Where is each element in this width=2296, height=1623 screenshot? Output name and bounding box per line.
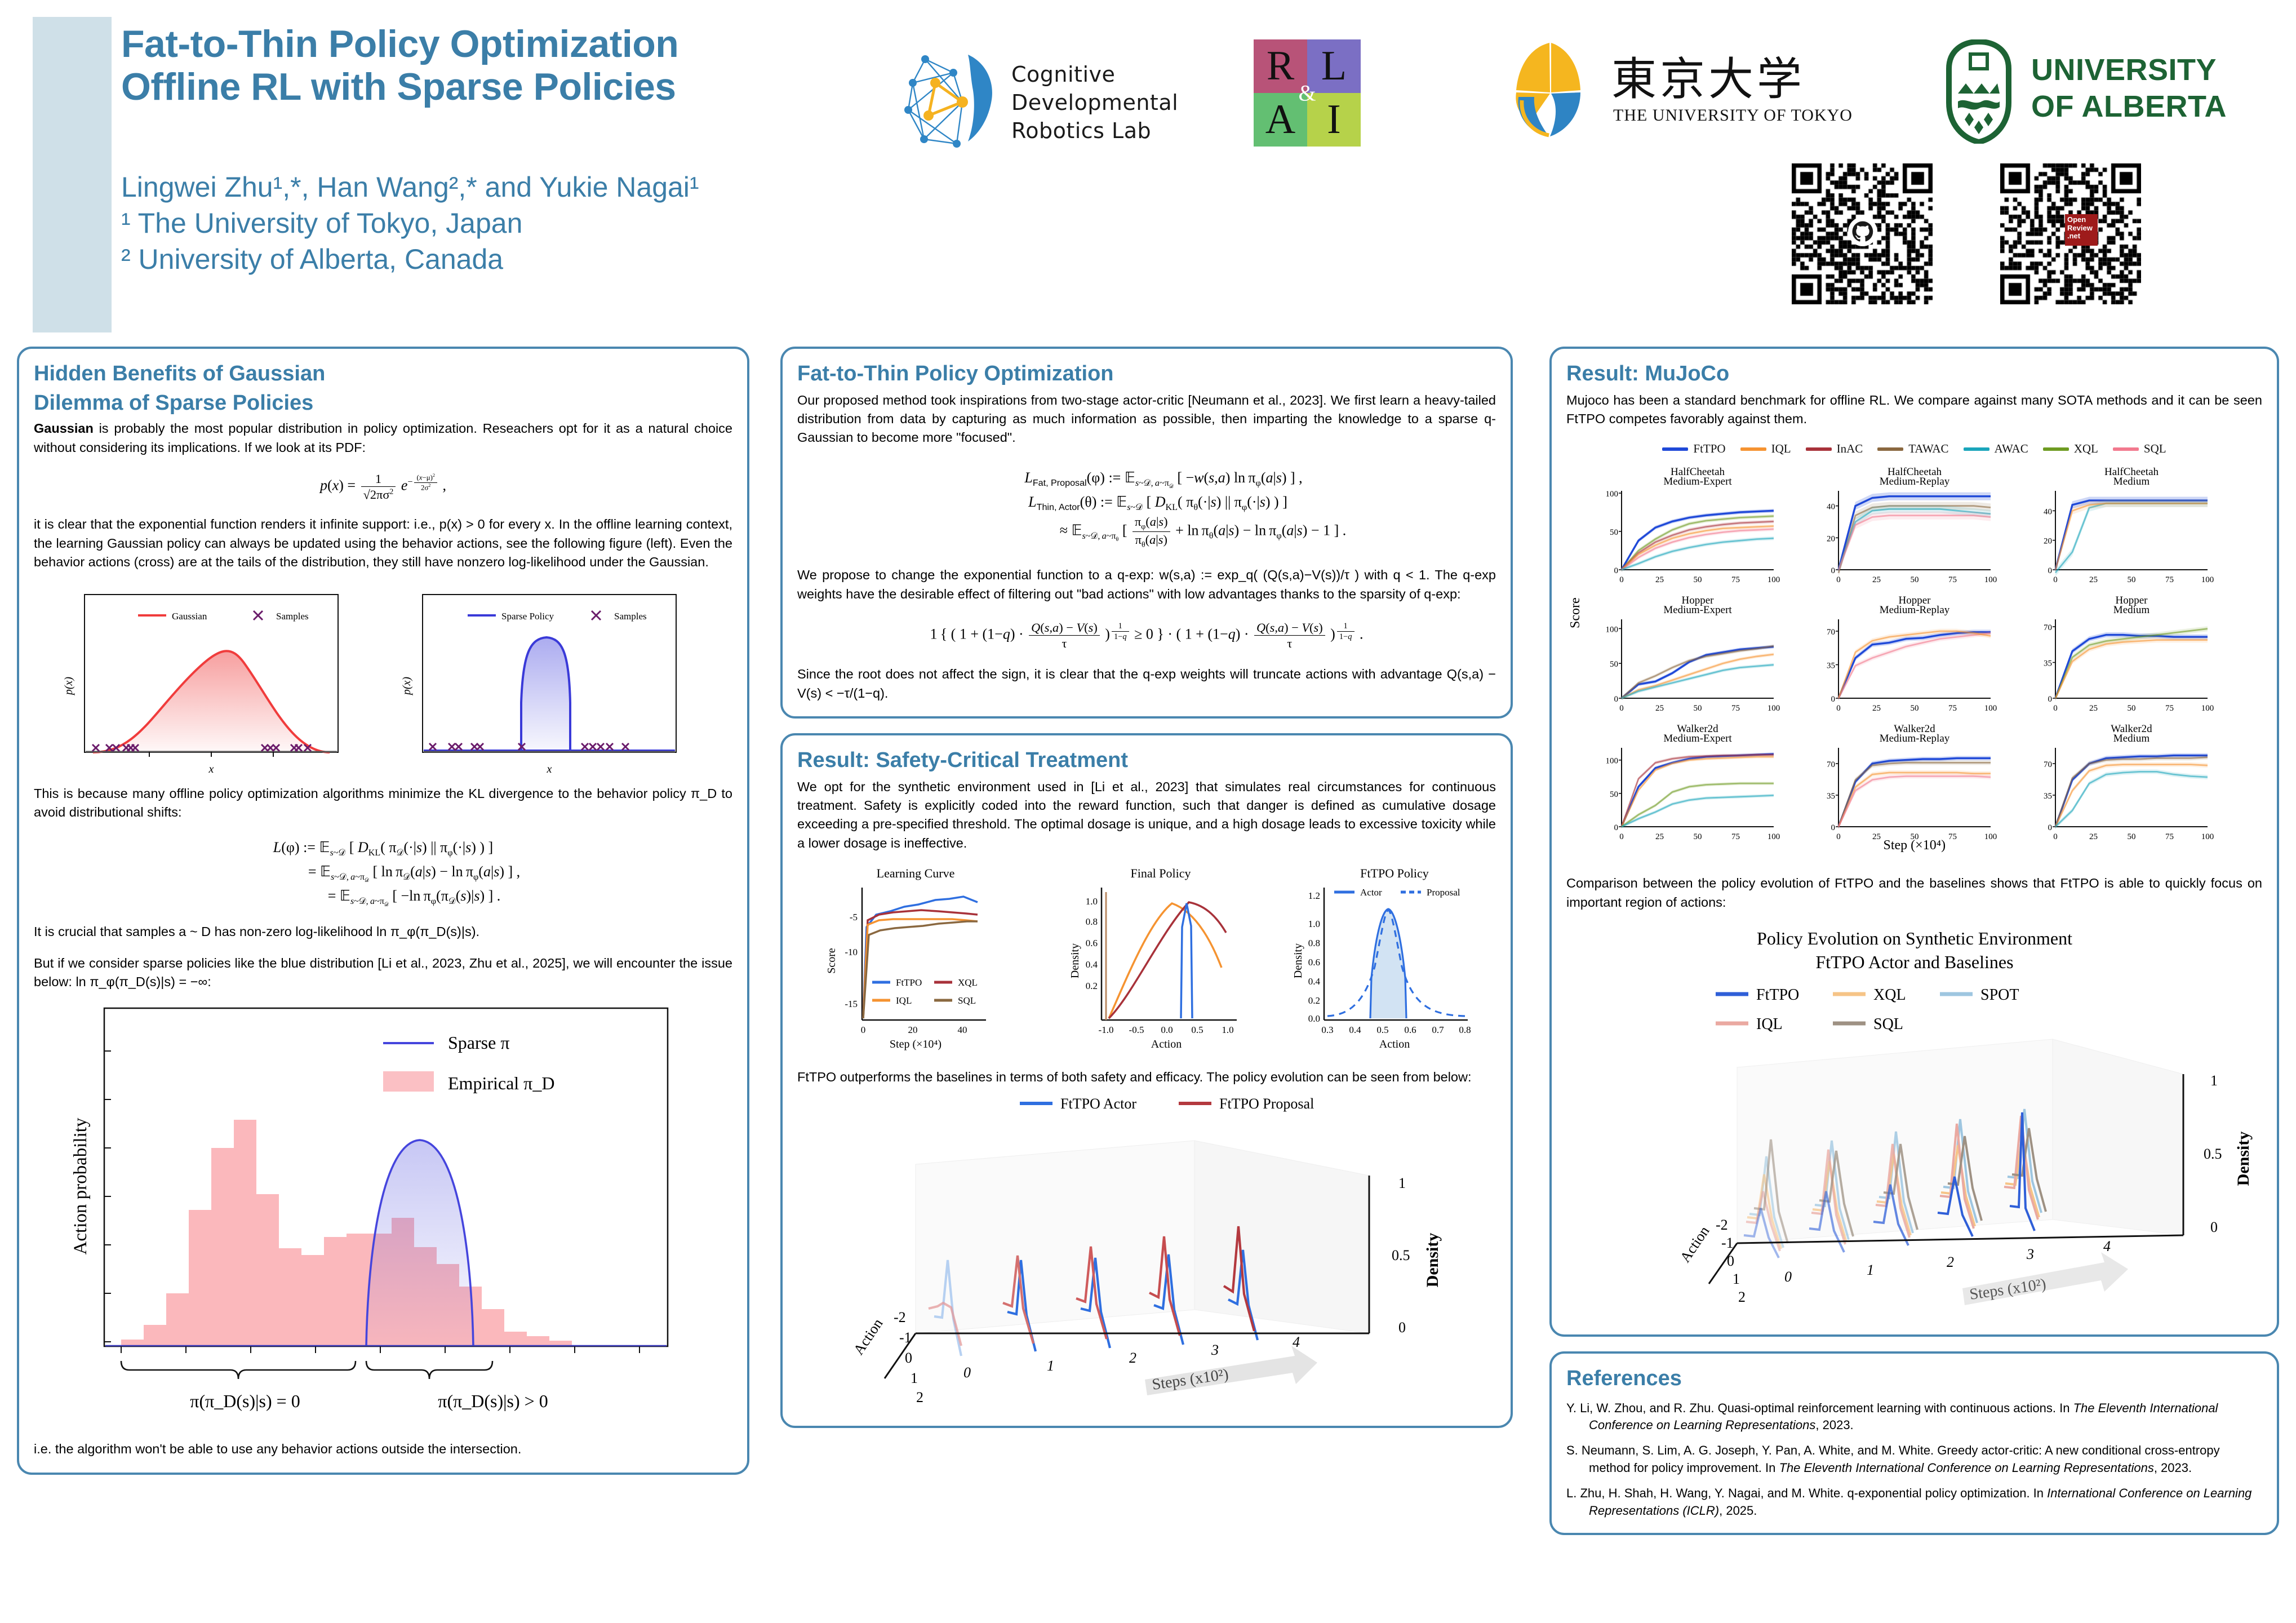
pe-right-zlabel: Density: [2234, 1132, 2253, 1186]
hist-brace-left-label: π(π_D(s)|s) = 0: [190, 1391, 300, 1411]
lc-legend-xql: XQL: [958, 977, 978, 988]
svg-text:75: 75: [1948, 832, 1957, 841]
left-column: Hidden Benefits of Gaussian Dilemma of S…: [17, 347, 749, 1489]
cdr-brain-icon: [901, 48, 1009, 149]
cdr-lab-text: Cognitive Developmental Robotics Lab: [1011, 60, 1178, 145]
ftpo-xtick-4: 0.6: [1404, 1025, 1416, 1035]
github-icon: [1848, 217, 1877, 246]
final-policy-title: Final Policy: [1131, 866, 1191, 880]
svg-text:100: 100: [2201, 832, 2214, 841]
svg-text:100: 100: [1984, 704, 1997, 713]
ftpo-ytick-08: 0.8: [1308, 938, 1320, 948]
gaussian-bold-lead: Gaussian: [34, 421, 94, 436]
lc-xtick-1: 0: [861, 1025, 866, 1035]
svg-text:75: 75: [1731, 575, 1740, 584]
ftpo-ytick-10: 1.0: [1308, 919, 1320, 929]
mujoco-panel-4: HopperMedium-Replay035700255075100: [1827, 595, 1997, 713]
pe3d-xtick-1: 1: [1047, 1358, 1054, 1374]
pe-right-legend-iql: IQL: [1756, 1016, 1783, 1033]
pe-right-title-1: Policy Evolution on Synthetic Environmen…: [1757, 928, 2072, 948]
lc-xlabel: Step (×10⁴): [890, 1038, 942, 1050]
ftpo-xtick-6: 0.8: [1459, 1025, 1471, 1035]
learning-curve-plot: Learning Curve -5 -10 -15 0 20 40 Score …: [825, 866, 986, 1050]
equation-kl-line1: L(φ) := 𝔼s~𝒟 [ DKL( π𝒟(·|s) || πφ(·|s) )…: [34, 836, 732, 860]
mujoco-legend-tawac: TAWAC: [1877, 442, 1948, 456]
pe-right-xtick-1: 1: [1867, 1262, 1874, 1278]
lc-ylabel: Score: [825, 948, 838, 974]
gaussian-ylabel: p(x): [63, 676, 75, 696]
svg-text:Medium-Expert: Medium-Expert: [1663, 733, 1732, 744]
svg-text:75: 75: [2165, 832, 2174, 841]
label-xql: XQL: [2074, 442, 2098, 456]
pe3d-ytick-0: 0: [905, 1350, 912, 1366]
header-accent-bar: [33, 17, 112, 332]
ftpo-legend: Actor Proposal: [1334, 887, 1460, 898]
qr-code-row: OpenReview.net: [1792, 163, 2141, 316]
svg-text:0: 0: [1619, 704, 1624, 713]
final-policy-plot: Final Policy 0.2 0.4 0.6 0.8 1.0 -1.0 -0…: [1069, 866, 1237, 1050]
para-intersection: i.e. the algorithm won't be able to use …: [34, 1440, 732, 1458]
mujoco-panel-5: HopperMedium035700255075100: [2044, 595, 2214, 713]
hist-brace-right-label: π(π_D(s)|s) > 0: [438, 1391, 548, 1411]
panel-heading-references: References: [1566, 1366, 2262, 1392]
svg-text:Medium-Expert: Medium-Expert: [1663, 476, 1732, 487]
pe3d-xtick-0: 0: [963, 1364, 971, 1381]
gaussian-plot: Gaussian Samples p(x) x: [63, 595, 338, 775]
svg-text:0: 0: [2048, 823, 2052, 832]
svg-text:Medium-Replay: Medium-Replay: [1879, 733, 1949, 744]
series-XQL: [1622, 783, 1774, 827]
svg-text:50: 50: [1910, 704, 1918, 713]
para-kl-divergence: This is because many offline policy opti…: [34, 784, 732, 822]
legend-sparse-samples: Samples: [614, 611, 647, 622]
svg-text:Medium-Replay: Medium-Replay: [1879, 604, 1949, 616]
equation-thin-actor-1: LThin, Actor(θ) := 𝔼s~𝒟 [ DKL( πθ(·|s) |…: [797, 491, 1496, 515]
mujoco-panel-8: Walker2dMedium035700255075100: [2044, 723, 2214, 841]
svg-text:50: 50: [1910, 575, 1918, 584]
pe-right-xtick-4: 4: [2103, 1238, 2111, 1254]
ftpo-ytick-06: 0.6: [1308, 957, 1320, 968]
svg-text:75: 75: [1948, 704, 1957, 713]
label-ftpo: FtTPO: [1693, 442, 1725, 456]
fp-ytick-08: 0.8: [1086, 916, 1098, 927]
affiliation-2: ² University of Alberta, Canada: [121, 241, 966, 277]
ftpo-xlabel: Action: [1379, 1038, 1410, 1050]
pe3d-ylabel: Action: [850, 1316, 886, 1358]
svg-text:100: 100: [1984, 832, 1997, 841]
svg-text:50: 50: [1610, 660, 1618, 669]
pe-right-ztick-0: 0: [2210, 1219, 2218, 1235]
pe-right-xlabel: Steps (x10²): [1968, 1275, 2047, 1303]
panel-heading-dilemma: Dilemma of Sparse Policies: [34, 391, 732, 416]
panel-heading-hidden-benefits: Hidden Benefits of Gaussian: [34, 361, 732, 387]
figure-action-probability-histogram: Sparse π Empirical π_D Action probabilit…: [59, 1000, 707, 1434]
svg-text:25: 25: [1655, 704, 1664, 713]
pe3d-ytick--1: -1: [899, 1329, 912, 1346]
svg-text:100: 100: [2201, 575, 2214, 584]
svg-text:75: 75: [2165, 704, 2174, 713]
series-FtTPO: [2055, 635, 2208, 698]
legend-sparse-policy: Sparse Policy: [501, 611, 554, 622]
svg-text:25: 25: [1872, 575, 1881, 584]
pe3d-legend: FtTPO Actor FtTPO Proposal: [1020, 1096, 1314, 1112]
ftpo-ytick-02: 0.2: [1308, 995, 1320, 1006]
svg-text:0: 0: [1614, 695, 1618, 704]
sparse-ylabel: p(x): [401, 676, 413, 696]
pe3d-ytick-2: 2: [916, 1389, 923, 1405]
svg-text:35: 35: [1827, 662, 1835, 671]
lc-legend: FtTPO XQL IQL SQL: [872, 977, 978, 1006]
svg-text:35: 35: [2044, 659, 2052, 668]
figure-safety-three-panels: Learning Curve -5 -10 -15 0 20 40 Score …: [800, 865, 1493, 1051]
pe-right-ytick-2: 2: [1738, 1289, 1746, 1305]
para-sparse-issue: But if we consider sparse policies like …: [34, 954, 732, 992]
svg-text:20: 20: [1827, 535, 1835, 544]
para-infinite-support: it is clear that the exponential functio…: [34, 515, 732, 571]
pe-right-ylabel: Action: [1676, 1223, 1712, 1266]
mujoco-legend-ftpo: FtTPO: [1662, 442, 1725, 456]
mujoco-legend-awac: AWAC: [1964, 442, 2028, 456]
svg-text:0: 0: [2048, 566, 2052, 575]
svg-text:100: 100: [1984, 575, 1997, 584]
ftpo-xtick-2: 0.4: [1349, 1025, 1361, 1035]
svg-text:Medium-Expert: Medium-Expert: [1663, 604, 1732, 616]
hist-ylabel: Action probability: [70, 1118, 91, 1255]
series-AWAC: [2055, 504, 2208, 573]
pe-right-legend-sql: SQL: [1873, 1016, 1903, 1033]
series-TAWAC: [2055, 757, 2208, 827]
svg-text:0: 0: [1614, 823, 1618, 832]
svg-text:0: 0: [2048, 695, 2052, 704]
ftpo-policy-title: FtTPO Policy: [1360, 866, 1429, 880]
affiliation-1: ¹ The University of Tokyo, Japan: [121, 205, 966, 241]
panel-heading-safety-critical: Result: Safety-Critical Treatment: [797, 748, 1496, 774]
lc-ytick-3: -15: [845, 999, 858, 1009]
cdr-line-2: Developmental: [1011, 88, 1178, 117]
panel-references: References Y. Li, W. Zhou, and R. Zhu. Q…: [1549, 1351, 2279, 1535]
svg-text:50: 50: [2127, 704, 2135, 713]
learning-curve-title: Learning Curve: [877, 866, 955, 880]
page-title-line2: Offline RL with Sparse Policies: [121, 65, 910, 108]
panel-heading-mujoco: Result: MuJoCo: [1566, 361, 2262, 387]
sparse-policy-plot: Sparse Policy Samples p(x) x: [401, 595, 676, 775]
equation-kl: L(φ) := 𝔼s~𝒟 [ DKL( π𝒟(·|s) || πφ(·|s) )…: [34, 836, 732, 909]
fp-ytick-06: 0.6: [1086, 938, 1098, 948]
svg-text:100: 100: [1767, 575, 1780, 584]
svg-text:Medium: Medium: [2113, 733, 2150, 744]
pe3d-xtick-2: 2: [1129, 1350, 1136, 1366]
lc-legend-sql: SQL: [958, 995, 976, 1006]
mujoco-panel-3: HopperMedium-Expert0501000255075100: [1605, 595, 1780, 713]
series-FtTPO: [1838, 759, 1991, 827]
ftpo-ytick-12: 1.2: [1308, 890, 1320, 901]
pe3d-xlabel: Steps (x10²): [1151, 1366, 1230, 1394]
svg-text:40: 40: [1827, 503, 1835, 512]
label-awac: AWAC: [1995, 442, 2028, 456]
swatch-awac: [1964, 447, 1989, 451]
svg-text:100: 100: [2201, 704, 2214, 713]
lc-ytick-2: -10: [845, 947, 858, 957]
utokyo-subtitle: THE UNIVERSITY OF TOKYO: [1613, 106, 1853, 125]
reference-item-1: Y. Li, W. Zhou, and R. Zhu. Quasi-optima…: [1566, 1400, 2262, 1435]
lc-legend-ftpo: FtTPO: [896, 977, 922, 988]
panel-heading-fat-to-thin: Fat-to-Thin Policy Optimization: [797, 361, 1496, 387]
label-iql: IQL: [1771, 442, 1791, 456]
equation-kl-line2: = 𝔼s~𝒟, a~π𝒟 [ ln π𝒟(a|s) − ln πφ(a|s) ]…: [34, 861, 732, 885]
label-tawac: TAWAC: [1908, 442, 1948, 456]
svg-text:70: 70: [1827, 628, 1835, 637]
fp-ytick-10: 1.0: [1086, 896, 1098, 907]
university-of-tokyo-logo: 東京大学 THE UNIVERSITY OF TOKYO: [1496, 38, 1890, 145]
mujoco-panel-6: Walker2dMedium-Expert0501000255075100: [1605, 723, 1780, 841]
svg-text:100: 100: [1605, 757, 1618, 766]
pe3d-ztick-05: 0.5: [1392, 1247, 1410, 1263]
cdr-line-1: Cognitive: [1011, 60, 1178, 88]
authors-block: Lingwei Zhu¹,*, Han Wang²,* and Yukie Na…: [121, 169, 966, 277]
pe3d-xtick-3: 3: [1211, 1342, 1219, 1358]
ualberta-line-2: OF ALBERTA: [2031, 88, 2227, 125]
fp-ylabel: Density: [1069, 943, 1081, 978]
svg-text:25: 25: [1872, 704, 1881, 713]
ftpo-xtick-5: 0.7: [1432, 1025, 1444, 1035]
svg-text:50: 50: [2127, 575, 2135, 584]
equation-fat-proposal: LFat, Proposal(φ) := 𝔼s~𝒟, a~π𝒟 [ −w(s,a…: [797, 467, 1496, 491]
lc-xtick-3: 40: [958, 1025, 967, 1035]
ftpo-legend-proposal: Proposal: [1427, 887, 1460, 898]
equation-gaussian-pdf: p(x) = 1√2πσ2 e−(x−μ)22σ2 ,: [34, 472, 732, 502]
svg-text:25: 25: [2089, 832, 2098, 841]
svg-text:25: 25: [1655, 832, 1664, 841]
svg-text:0: 0: [1831, 695, 1835, 704]
pe3d-zlabel: Density: [1423, 1233, 1442, 1288]
utokyo-kanji: 東京大学: [1611, 43, 1805, 108]
ualberta-line-1: UNIVERSITY: [2031, 52, 2227, 88]
pe-right-xtick-3: 3: [2026, 1246, 2034, 1262]
para-mujoco: Mujoco has been a standard benchmark for…: [1566, 391, 2262, 429]
pe-right-xtick-2: 2: [1947, 1254, 1954, 1270]
page-title-line1: Fat-to-Thin Policy Optimization: [121, 23, 910, 65]
svg-text:40: 40: [2044, 508, 2052, 517]
para-policy-evolution-comparison: Comparison between the policy evolution …: [1566, 874, 2262, 912]
lc-legend-iql: IQL: [896, 995, 912, 1006]
legend-gaussian: Gaussian: [172, 611, 207, 622]
svg-text:Medium: Medium: [2113, 476, 2150, 487]
openreview-qr-code[interactable]: OpenReview.net: [2000, 163, 2141, 304]
github-qr-code[interactable]: [1792, 163, 1933, 304]
pe-right-ytick-0: 0: [1727, 1253, 1734, 1269]
pe-right-legend: FtTPO XQL SPOT IQL SQL: [1716, 986, 2019, 1033]
fp-xtick-1: -1.0: [1099, 1025, 1114, 1035]
svg-text:75: 75: [1948, 575, 1957, 584]
figure-gaussian-vs-sparse: Gaussian Samples p(x) x: [51, 584, 716, 779]
para-two-stage: Our proposed method took inspirations fr…: [797, 391, 1496, 447]
equation-qexp-weights: 1 { ( 1 + (1−q) · Q(s,a) − V(s)τ )11−q ≥…: [797, 620, 1496, 650]
middle-column: Fat-to-Thin Policy Optimization Our prop…: [780, 347, 1513, 1443]
pe-right-ztick-1: 1: [2210, 1072, 2218, 1089]
para-gaussian-intro-text: is probably the most popular distributio…: [34, 421, 732, 454]
mujoco-score-ylabel: Score: [1568, 598, 1583, 629]
poster-header: Fat-to-Thin Policy Optimization Offline …: [0, 0, 2296, 338]
svg-text:25: 25: [2089, 575, 2098, 584]
right-column: Result: MuJoCo Mujoco has been a standar…: [1549, 347, 2279, 1550]
svg-text:20: 20: [2044, 537, 2052, 546]
mujoco-panel-2: HalfCheetahMedium020400255075100: [2044, 466, 2214, 584]
para-nonzero-loglik: It is crucial that samples a ~ D has non…: [34, 923, 732, 941]
figure-policy-evolution-3d: FtTPO Actor FtTPO Proposal: [800, 1091, 1493, 1407]
svg-text:25: 25: [1655, 575, 1664, 584]
authors: Lingwei Zhu¹,*, Han Wang²,* and Yukie Na…: [121, 169, 966, 205]
logo-row: Cognitive Developmental Robotics Lab R L…: [901, 34, 2265, 147]
mujoco-panel-0: HalfCheetahMedium-Expert0501000255075100: [1605, 466, 1780, 584]
lc-xtick-2: 20: [908, 1025, 918, 1035]
fp-xtick-2: -0.5: [1129, 1025, 1144, 1035]
cdr-line-3: Robotics Lab: [1011, 117, 1178, 145]
svg-text:0: 0: [1836, 832, 1841, 841]
ftpo-legend-actor: Actor: [1360, 887, 1382, 898]
pe-right-ytick--1: -1: [1721, 1235, 1734, 1251]
svg-text:100: 100: [1605, 490, 1618, 499]
rlai-ampersand: &: [1298, 80, 1316, 107]
figure-mujoco-grid: HalfCheetahMedium-Expert0501000255075100…: [1568, 459, 2261, 854]
pe3d-ytick-1: 1: [911, 1370, 918, 1386]
rlai-logo: R L A I &: [1254, 39, 1361, 147]
gaussian-xlabel: x: [208, 763, 214, 775]
title-block: Fat-to-Thin Policy Optimization Offline …: [121, 23, 910, 108]
svg-text:0: 0: [1614, 566, 1618, 575]
svg-text:0: 0: [2053, 704, 2058, 713]
svg-text:50: 50: [1693, 704, 1702, 713]
svg-text:Medium: Medium: [2113, 604, 2150, 616]
pe-right-ytick-1: 1: [1733, 1271, 1740, 1287]
mujoco-legend-iql: IQL: [1740, 442, 1791, 456]
panel-mujoco: Result: MuJoCo Mujoco has been a standar…: [1549, 347, 2279, 1337]
label-sql: SQL: [2144, 442, 2166, 456]
university-of-alberta-logo: UNIVERSITY OF ALBERTA: [1941, 39, 2268, 144]
pe-right-legend-xql: XQL: [1873, 986, 1906, 1004]
svg-text:50: 50: [1693, 575, 1702, 584]
para-synthetic-env: We opt for the synthetic environment use…: [797, 778, 1496, 853]
swatch-iql: [1740, 447, 1766, 451]
swatch-xql: [2043, 447, 2069, 451]
svg-text:70: 70: [2044, 623, 2052, 632]
svg-text:50: 50: [1693, 832, 1702, 841]
legend-gaussian-samples: Samples: [276, 611, 309, 622]
ftpo-ytick-04: 0.4: [1308, 976, 1321, 987]
svg-text:50: 50: [1610, 790, 1618, 799]
svg-text:35: 35: [2044, 792, 2052, 801]
equation-thin-actor-2: ≈ 𝔼s~𝒟, a~πθ [ πφ(a|s)πθ(a|s) + ln πθ(a|…: [797, 515, 1496, 549]
pe3d-legend-proposal: FtTPO Proposal: [1219, 1096, 1314, 1112]
svg-text:100: 100: [1767, 704, 1780, 713]
svg-text:0: 0: [1831, 823, 1835, 832]
fp-xtick-3: 0.0: [1161, 1025, 1173, 1035]
pe-right-ztick-05: 0.5: [2204, 1146, 2222, 1162]
equation-losses: LFat, Proposal(φ) := 𝔼s~𝒟, a~π𝒟 [ −w(s,a…: [797, 467, 1496, 549]
para-outperforms: FtTPO outperforms the baselines in terms…: [797, 1068, 1496, 1087]
legend-empirical-pid: Empirical π_D: [448, 1073, 554, 1093]
swatch-ftpo: [1662, 447, 1688, 451]
pe-right-title-2: FtTPO Actor and Baselines: [1815, 952, 2013, 972]
figure-policy-evolution-baselines: Policy Evolution on Synthetic Environmen…: [1568, 926, 2261, 1315]
mujoco-panel-1: HalfCheetahMedium-Replay020400255075100: [1827, 466, 1997, 584]
fp-ytick-02: 0.2: [1086, 981, 1098, 991]
svg-text:50: 50: [1610, 528, 1618, 537]
mujoco-panel-7: Walker2dMedium-Replay035700255075100: [1827, 723, 1997, 841]
panel-safety-critical: Result: Safety-Critical Treatment We opt…: [780, 733, 1513, 1428]
swatch-tawac: [1877, 447, 1903, 451]
openreview-badge: OpenReview.net: [2065, 214, 2098, 246]
svg-text:75: 75: [1731, 704, 1740, 713]
reference-item-3: L. Zhu, H. Shah, H. Wang, Y. Nagai, and …: [1566, 1485, 2262, 1520]
pe-right-ytick--2: -2: [1716, 1217, 1728, 1233]
lc-ytick-1: -5: [850, 912, 858, 923]
svg-text:50: 50: [2127, 832, 2135, 841]
fp-ytick-04: 0.4: [1086, 959, 1098, 970]
svg-text:0: 0: [1619, 832, 1624, 841]
utokyo-ginkgo-icon: [1496, 38, 1603, 143]
svg-text:0: 0: [2053, 832, 2058, 841]
equation-kl-line3: = 𝔼s~𝒟, a~π𝒟 [ −ln πφ(π𝒟(s)|s) ] .: [34, 885, 732, 909]
svg-text:25: 25: [2089, 704, 2098, 713]
para-qexp: We propose to change the exponential fun…: [797, 566, 1496, 604]
mujoco-legend-xql: XQL: [2043, 442, 2098, 456]
svg-text:35: 35: [1827, 792, 1835, 801]
pe-right-xtick-0: 0: [1784, 1269, 1792, 1285]
svg-text:Medium-Replay: Medium-Replay: [1879, 476, 1949, 487]
fp-xlabel: Action: [1151, 1038, 1182, 1050]
svg-text:100: 100: [1767, 832, 1780, 841]
para-truncate: Since the root does not affect the sign,…: [797, 665, 1496, 703]
svg-text:0: 0: [1836, 704, 1841, 713]
svg-text:70: 70: [1827, 760, 1835, 769]
pe3d-legend-actor: FtTPO Actor: [1060, 1096, 1136, 1112]
svg-text:25: 25: [1872, 832, 1881, 841]
label-inac: InAC: [1837, 442, 1863, 456]
pe-right-legend-ftpo: FtTPO: [1756, 986, 1799, 1004]
panel-fat-to-thin: Fat-to-Thin Policy Optimization Our prop…: [780, 347, 1513, 719]
ualberta-shield-icon: [1941, 39, 2017, 144]
swatch-sql: [2113, 447, 2139, 451]
svg-text:70: 70: [2044, 760, 2052, 769]
pe3d-ztick-1: 1: [1398, 1175, 1406, 1191]
mujoco-legend-inac: InAC: [1806, 442, 1863, 456]
svg-text:0: 0: [1619, 575, 1624, 584]
ftpo-policy-plot: FtTPO Policy 0.0 0.2 0.4 0.6 0.8 1.0 1.2…: [1292, 866, 1471, 1050]
sparse-xlabel: x: [547, 763, 552, 775]
mujoco-legend: FtTPO IQL InAC TAWAC AWAC XQL SQL: [1566, 442, 2262, 456]
panel-hidden-benefits: Hidden Benefits of Gaussian Dilemma of S…: [17, 347, 749, 1475]
ftpo-xtick-1: 0.3: [1321, 1025, 1333, 1035]
svg-text:0: 0: [1831, 566, 1835, 575]
svg-text:75: 75: [2165, 575, 2174, 584]
fp-xtick-4: 0.5: [1191, 1025, 1203, 1035]
pe-right-legend-spot: SPOT: [1980, 986, 2019, 1004]
mujoco-legend-sql: SQL: [2113, 442, 2166, 456]
fp-xtick-5: 1.0: [1222, 1025, 1233, 1035]
pe3d-ztick-0: 0: [1398, 1319, 1406, 1336]
ftpo-ytick-00: 0.0: [1308, 1013, 1320, 1024]
legend-sparse-pi: Sparse π: [448, 1032, 509, 1053]
swatch-inac: [1806, 447, 1832, 451]
svg-text:100: 100: [1605, 626, 1618, 635]
svg-text:75: 75: [1731, 832, 1740, 841]
ftpo-xtick-3: 0.5: [1376, 1025, 1388, 1035]
svg-text:0: 0: [2053, 575, 2058, 584]
pe3d-ytick--2: -2: [894, 1309, 906, 1325]
mujoco-step-xlabel: Step (×10⁴): [1884, 838, 1946, 853]
cognitive-developmental-robotics-lab-logo: Cognitive Developmental Robotics Lab: [901, 48, 1217, 149]
reference-item-2: S. Neumann, S. Lim, A. G. Joseph, Y. Pan…: [1566, 1442, 2262, 1477]
